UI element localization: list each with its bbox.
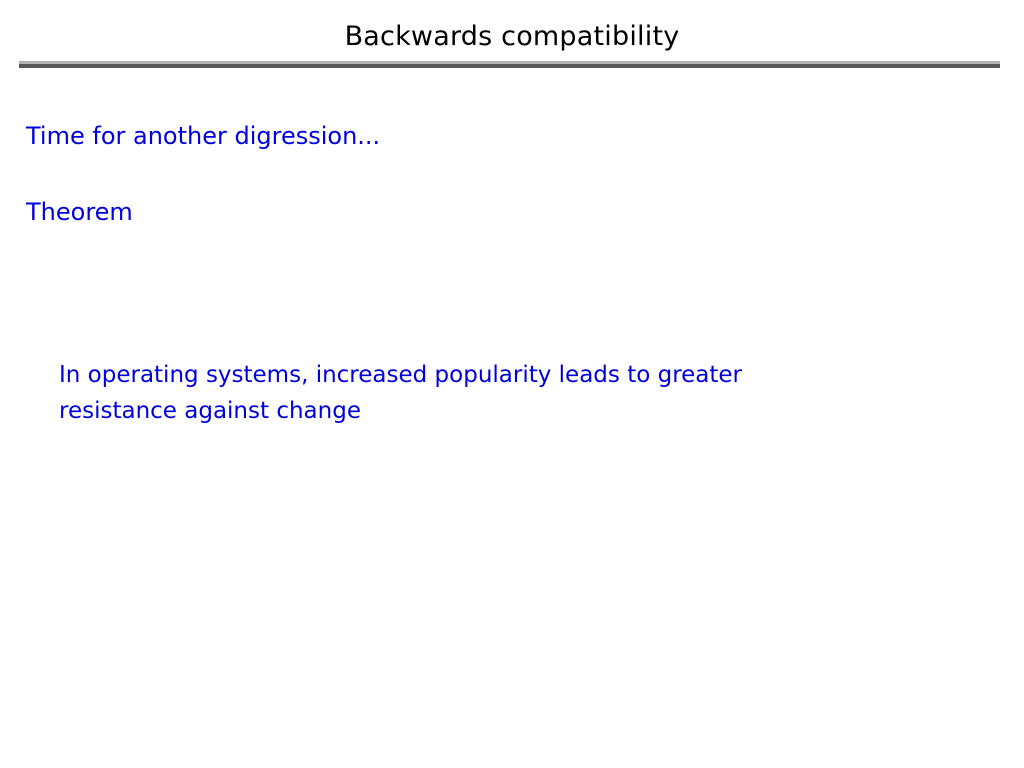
- bullet-theorem: Theorem: [26, 196, 133, 228]
- slide-canvas: Backwards compatibility Time for another…: [0, 0, 1024, 768]
- theorem-statement-line-2: resistance against change: [59, 393, 889, 429]
- theorem-statement: In operating systems, increased populari…: [59, 357, 889, 429]
- bullet-digression: Time for another digression...: [26, 120, 380, 152]
- theorem-statement-line-1: In operating systems, increased populari…: [59, 357, 889, 393]
- slide-body: Time for another digression... Theorem I…: [0, 0, 1024, 768]
